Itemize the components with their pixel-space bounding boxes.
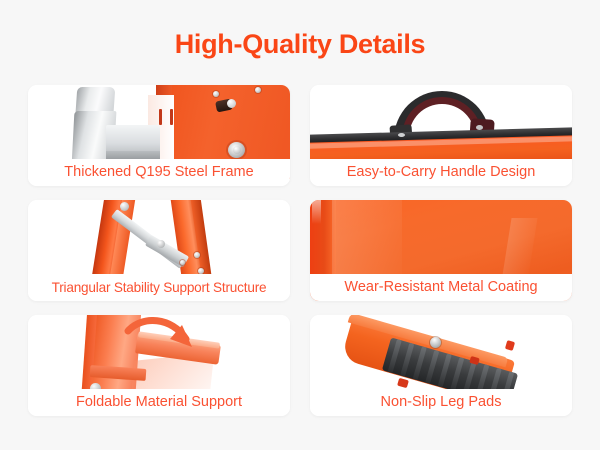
- rivet-icon: [398, 133, 405, 137]
- card-caption: Easy-to-Carry Handle Design: [310, 159, 572, 186]
- feature-card-wear-resistant-coating[interactable]: Wear-Resistant Metal Coating: [310, 200, 572, 301]
- card-caption: Wear-Resistant Metal Coating: [310, 274, 572, 301]
- knob-cap-shape: [227, 99, 236, 108]
- edge-highlight: [312, 200, 321, 224]
- feature-card-grid: Thickened Q195 Steel Frame Easy-to-Carry…: [28, 85, 572, 416]
- fold-direction-arrow-icon: [124, 317, 204, 363]
- screw-icon: [194, 252, 200, 258]
- chrome-hook-arm-shadow: [106, 151, 160, 159]
- top-bolt-icon: [120, 202, 129, 211]
- page-title: High-Quality Details: [0, 28, 600, 60]
- feature-card-triangular-support[interactable]: Triangular Stability Support Structure: [28, 200, 290, 301]
- red-accent: [505, 340, 515, 351]
- screw-icon: [255, 87, 261, 93]
- feature-card-easy-carry-handle[interactable]: Easy-to-Carry Handle Design: [310, 85, 572, 186]
- brace-pivot-icon: [157, 240, 165, 248]
- frame-prong: [159, 109, 162, 125]
- card-caption: Foldable Material Support: [28, 389, 290, 416]
- bolt-center-icon: [233, 146, 241, 154]
- rivet-icon: [476, 125, 483, 130]
- card-caption: Thickened Q195 Steel Frame: [28, 159, 290, 186]
- feature-card-non-slip-leg-pads[interactable]: Non-Slip Leg Pads: [310, 315, 572, 416]
- feature-highlights-page: High-Quality Details: [0, 0, 600, 450]
- card-caption: Triangular Stability Support Structure: [28, 274, 290, 301]
- frame-prong: [170, 109, 173, 125]
- feature-card-foldable-support[interactable]: Foldable Material Support: [28, 315, 290, 416]
- screw-icon: [213, 91, 219, 97]
- card-caption: Non-Slip Leg Pads: [310, 389, 572, 416]
- screw-icon: [180, 260, 185, 265]
- red-accent: [397, 378, 409, 388]
- feature-card-thickened-steel-frame[interactable]: Thickened Q195 Steel Frame: [28, 85, 290, 186]
